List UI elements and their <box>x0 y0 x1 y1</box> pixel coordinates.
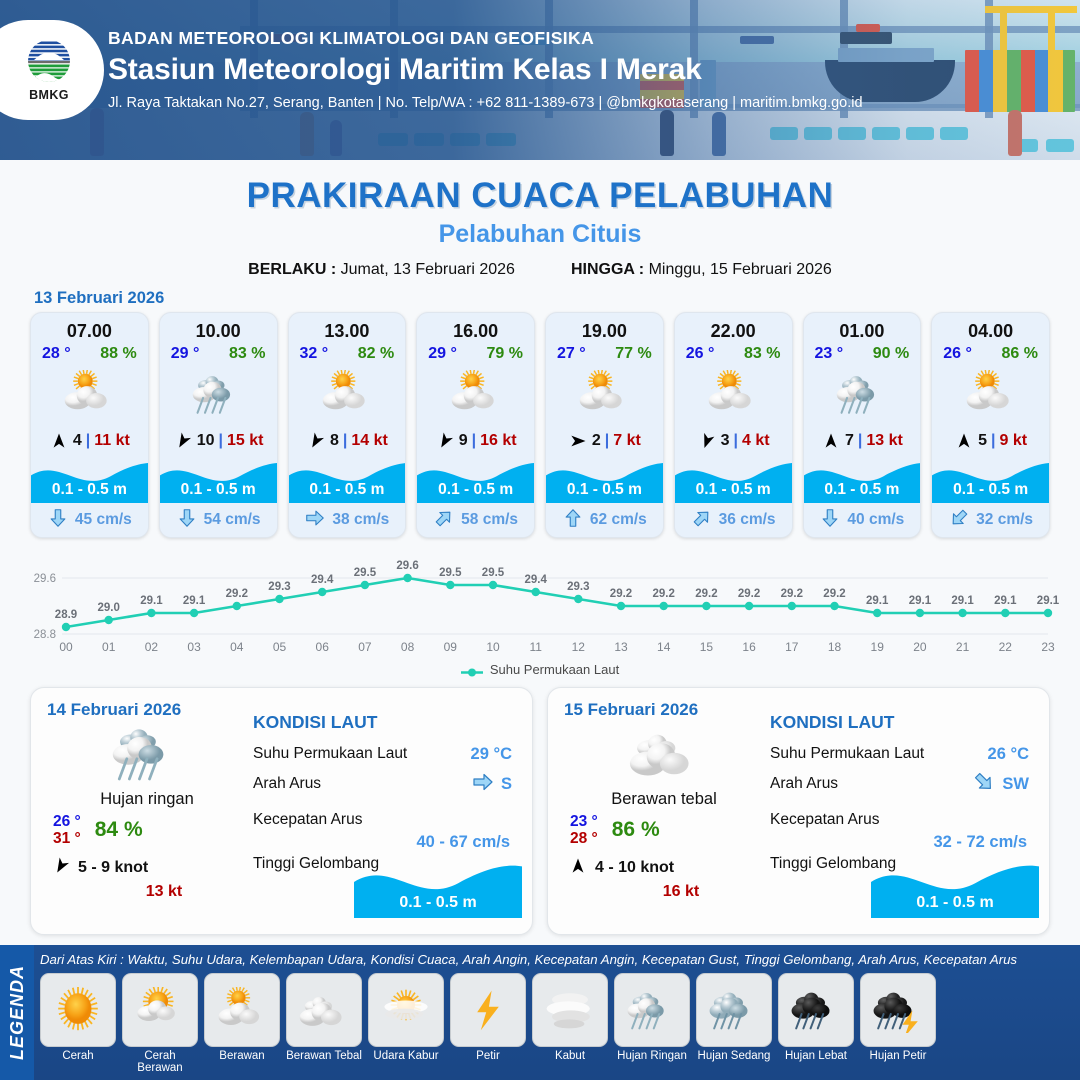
sst-value: 26 °C <box>988 745 1029 764</box>
chart-legend-marker <box>461 665 483 674</box>
daily-temp-col: 26 ° 31 ° <box>53 813 81 848</box>
card-wind-row: 2 | 7 kt <box>546 425 663 457</box>
card-humidity: 77 % <box>615 345 651 363</box>
svg-text:29.3: 29.3 <box>567 581 589 593</box>
svg-text:03: 03 <box>187 640 201 654</box>
card-gust: 15 kt <box>227 432 263 450</box>
svg-text:12: 12 <box>572 640 586 654</box>
card-humidity: 90 % <box>873 345 909 363</box>
svg-text:29.1: 29.1 <box>1037 595 1060 607</box>
daily-humidity: 84 % <box>95 818 143 842</box>
daily-wave-block: 0.1 - 0.5 m <box>354 858 522 918</box>
wind-direction-arrow-icon <box>568 856 588 881</box>
card-temp-humidity-row: 26 ° 83 % <box>675 342 792 363</box>
legend-item: Petir <box>450 973 526 1074</box>
current-speed-value: 32 - 72 cm/s <box>933 833 1027 852</box>
card-time: 19.00 <box>546 313 663 342</box>
svg-text:05: 05 <box>273 640 287 654</box>
card-temperature: 26 ° <box>943 345 972 363</box>
svg-text:02: 02 <box>145 640 159 654</box>
svg-text:29.3: 29.3 <box>268 581 290 593</box>
svg-text:19: 19 <box>871 640 885 654</box>
svg-text:29.5: 29.5 <box>354 567 377 579</box>
card-humidity: 82 % <box>358 345 394 363</box>
legend-item: Hujan Petir <box>860 973 936 1074</box>
card-separator: | <box>219 432 223 450</box>
card-wind-speed: 10 <box>197 432 215 450</box>
legend-icon-hujan-petir-icon <box>860 973 936 1047</box>
legend-item: Udara Kabur <box>368 973 444 1074</box>
current-speed-label: Kecepatan Arus <box>253 811 362 829</box>
card-current-speed: 32 cm/s <box>976 511 1033 529</box>
card-wind-row: 3 | 4 kt <box>675 425 792 457</box>
card-separator: | <box>991 432 995 450</box>
page-header: BMKG BADAN METEOROLOGI KLIMATOLOGI DAN G… <box>0 0 1080 160</box>
legend-item-label: Cerah Berawan <box>122 1050 198 1074</box>
svg-text:29.2: 29.2 <box>695 588 717 600</box>
svg-text:29.5: 29.5 <box>482 567 505 579</box>
card-current-speed: 36 cm/s <box>719 511 776 529</box>
daily-panel-left: 15 Februari 2026 Berawan tebal 23 ° 28 °… <box>564 700 764 922</box>
svg-text:15: 15 <box>700 640 714 654</box>
current-speed-row: Kecepatan Arus 40 - 67 cm/s <box>253 811 516 829</box>
legend-icon-cerah-icon <box>40 973 116 1047</box>
card-wave-height: 0.1 - 0.5 m <box>31 481 148 499</box>
card-time: 04.00 <box>932 313 1049 342</box>
svg-text:20: 20 <box>913 640 927 654</box>
svg-text:29.1: 29.1 <box>140 595 163 607</box>
daily-panel-right: KONDISI LAUT Suhu Permukaan Laut 26 °C A… <box>764 700 1033 922</box>
card-temp-humidity-row: 26 ° 86 % <box>932 342 1049 363</box>
header-text-block: BADAN METEOROLOGI KLIMATOLOGI DAN GEOFIS… <box>108 28 863 111</box>
card-time: 22.00 <box>675 313 792 342</box>
hourly-card: 04.00 26 ° 86 % 5 | 9 kt 0.1 - 0.5 m <box>931 312 1050 538</box>
daily-temp-max: 28 ° <box>570 830 598 847</box>
card-wave-block: 0.1 - 0.5 m <box>675 457 792 503</box>
legend-side-banner: LEGENDA <box>0 945 34 1080</box>
card-current-row: 40 cm/s <box>804 503 921 537</box>
card-wave-block: 0.1 - 0.5 m <box>804 457 921 503</box>
card-current-speed: 38 cm/s <box>332 511 389 529</box>
card-weather-icon <box>31 365 148 423</box>
sst-row: Suhu Permukaan Laut 26 °C <box>770 745 1033 763</box>
legend-item-label: Petir <box>450 1050 526 1062</box>
card-temp-humidity-row: 28 ° 88 % <box>31 342 148 363</box>
card-wave-block: 0.1 - 0.5 m <box>932 457 1049 503</box>
wind-direction-arrow-icon <box>306 431 326 451</box>
valid-from-label: BERLAKU : <box>248 261 336 278</box>
daily-wave-value: 0.1 - 0.5 m <box>871 894 1039 912</box>
card-wind-row: 5 | 9 kt <box>932 425 1049 457</box>
svg-text:29.1: 29.1 <box>951 595 974 607</box>
card-separator: | <box>734 432 738 450</box>
svg-text:11: 11 <box>529 640 542 654</box>
card-current-row: 62 cm/s <box>546 503 663 537</box>
legend-icon-berawan-icon <box>204 973 280 1047</box>
daily-panel: 15 Februari 2026 Berawan tebal 23 ° 28 °… <box>547 687 1050 935</box>
card-humidity: 79 % <box>487 345 523 363</box>
valid-until-label: HINGGA : <box>571 261 644 278</box>
legend-item: Cerah Berawan <box>122 973 198 1074</box>
card-weather-icon <box>160 365 277 423</box>
legend-item-label: Udara Kabur <box>368 1050 444 1062</box>
card-current-row: 32 cm/s <box>932 503 1049 537</box>
current-direction-label: Arah Arus <box>770 775 838 793</box>
bmkg-logo-text: BMKG <box>22 88 76 102</box>
card-gust: 11 kt <box>94 432 130 450</box>
card-wave-block: 0.1 - 0.5 m <box>160 457 277 503</box>
legend-item-label: Hujan Sedang <box>696 1050 772 1062</box>
validity-row: BERLAKU : Jumat, 13 Februari 2026 HINGGA… <box>0 261 1080 279</box>
svg-text:23: 23 <box>1041 640 1055 654</box>
daily-condition: Hujan ringan <box>47 790 247 809</box>
card-current-speed: 62 cm/s <box>590 511 647 529</box>
daily-temp-max: 31 ° <box>53 830 81 847</box>
card-wind-speed: 4 <box>73 432 82 450</box>
sst-label: Suhu Permukaan Laut <box>253 745 407 763</box>
wind-direction-arrow-icon <box>435 431 455 451</box>
svg-text:29.2: 29.2 <box>738 588 760 600</box>
station-name: Stasiun Meteorologi Maritim Kelas I Mera… <box>108 53 863 87</box>
svg-text:09: 09 <box>444 640 458 654</box>
daily-wind-range: 5 - 9 knot <box>78 859 148 877</box>
daily-weather-icon <box>47 722 247 786</box>
card-temperature: 23 ° <box>815 345 844 363</box>
hourly-forecast-row: 07.00 28 ° 88 % 4 | 11 kt 0.1 - 0.5 m <box>0 312 1080 538</box>
card-weather-icon <box>289 365 406 423</box>
card-gust: 14 kt <box>351 432 387 450</box>
card-current-speed: 40 cm/s <box>847 511 904 529</box>
card-gust: 13 kt <box>866 432 902 450</box>
sst-chart: 28.829.628.90029.00129.10229.10329.20429… <box>18 552 1062 660</box>
card-wave-height: 0.1 - 0.5 m <box>417 481 534 499</box>
card-current-row: 38 cm/s <box>289 503 406 537</box>
daily-wind-row: 5 - 9 knot <box>47 856 247 881</box>
card-temp-humidity-row: 29 ° 79 % <box>417 342 534 363</box>
legend-item: Hujan Sedang <box>696 973 772 1074</box>
daily-panel-left: 14 Februari 2026 Hujan ringan 26 ° 31 ° … <box>47 700 247 922</box>
daily-date: 14 Februari 2026 <box>47 700 247 720</box>
svg-text:29.2: 29.2 <box>781 588 803 600</box>
card-wave-block: 0.1 - 0.5 m <box>31 457 148 503</box>
current-direction-arrow-icon <box>819 507 841 534</box>
svg-text:29.2: 29.2 <box>610 588 632 600</box>
current-direction-arrow-icon <box>972 770 996 799</box>
card-separator: | <box>858 432 862 450</box>
card-weather-icon <box>932 365 1049 423</box>
daily-panel: 14 Februari 2026 Hujan ringan 26 ° 31 ° … <box>30 687 533 935</box>
card-time: 07.00 <box>31 313 148 342</box>
legend-item: Kabut <box>532 973 608 1074</box>
hourly-card: 19.00 27 ° 77 % 2 | 7 kt 0.1 - 0.5 m <box>545 312 664 538</box>
card-wave-block: 0.1 - 0.5 m <box>546 457 663 503</box>
hourly-card: 10.00 29 ° 83 % 10 | 15 kt <box>159 312 278 538</box>
card-temperature: 32 ° <box>300 345 329 363</box>
sea-conditions-title: KONDISI LAUT <box>770 712 1033 733</box>
daily-wave-block: 0.1 - 0.5 m <box>871 858 1039 918</box>
current-direction-arrow-icon <box>562 507 584 534</box>
svg-text:17: 17 <box>785 640 799 654</box>
svg-text:06: 06 <box>316 640 330 654</box>
card-time: 13.00 <box>289 313 406 342</box>
card-wave-block: 0.1 - 0.5 m <box>417 457 534 503</box>
svg-text:29.2: 29.2 <box>653 588 675 600</box>
card-current-row: 58 cm/s <box>417 503 534 537</box>
svg-text:04: 04 <box>230 640 244 654</box>
card-humidity: 86 % <box>1002 345 1038 363</box>
bmkg-logo-icon <box>22 39 76 87</box>
card-wave-height: 0.1 - 0.5 m <box>675 481 792 499</box>
card-wave-height: 0.1 - 0.5 m <box>546 481 663 499</box>
svg-text:29.2: 29.2 <box>226 588 248 600</box>
daily-weather-icon <box>564 722 764 786</box>
legend-icon-kabut-icon <box>532 973 608 1047</box>
page-title: PRAKIRAAN CUACA PELABUHAN <box>0 176 1080 216</box>
legend-item: Hujan Lebat <box>778 973 854 1074</box>
wind-direction-arrow-icon <box>568 431 588 451</box>
daily-gust: 16 kt <box>564 883 764 901</box>
legend-icon-row: Cerah Cerah Berawan Berawan <box>40 973 1074 1074</box>
card-wind-row: 8 | 14 kt <box>289 425 406 457</box>
current-direction-arrow-icon <box>948 507 970 534</box>
svg-text:29.6: 29.6 <box>396 560 418 572</box>
sea-conditions-title: KONDISI LAUT <box>253 712 516 733</box>
valid-from-value: Jumat, 13 Februari 2026 <box>341 261 515 278</box>
card-weather-icon <box>417 365 534 423</box>
chart-legend-label: Suhu Permukaan Laut <box>490 662 619 677</box>
svg-text:00: 00 <box>59 640 73 654</box>
daily-wind-row: 4 - 10 knot <box>564 856 764 881</box>
legend-icon-berawan-tebal-icon <box>286 973 362 1047</box>
card-humidity: 83 % <box>229 345 265 363</box>
legend-item-label: Kabut <box>532 1050 608 1062</box>
daily-date: 15 Februari 2026 <box>564 700 764 720</box>
legend-icon-petir-icon <box>450 973 526 1047</box>
card-wind-speed: 3 <box>721 432 730 450</box>
legend-icon-cerah-berawan-icon <box>122 973 198 1047</box>
card-current-row: 36 cm/s <box>675 503 792 537</box>
card-weather-icon <box>804 365 921 423</box>
legend-icon-hujan-ringan-icon <box>614 973 690 1047</box>
svg-text:29.4: 29.4 <box>311 574 334 586</box>
legend-item: Hujan Ringan <box>614 973 690 1074</box>
card-weather-icon <box>675 365 792 423</box>
svg-text:29.6: 29.6 <box>34 573 56 585</box>
wind-direction-arrow-icon <box>49 431 69 451</box>
card-current-row: 54 cm/s <box>160 503 277 537</box>
hourly-card: 01.00 23 ° 90 % 7 | 13 kt <box>803 312 922 538</box>
svg-text:29.1: 29.1 <box>994 595 1017 607</box>
legend-item-label: Hujan Ringan <box>614 1050 690 1062</box>
legend-item-label: Berawan Tebal <box>286 1050 362 1062</box>
card-temp-humidity-row: 29 ° 83 % <box>160 342 277 363</box>
wind-direction-arrow-icon <box>697 431 717 451</box>
daily-gust: 13 kt <box>47 883 247 901</box>
daily-temp-col: 23 ° 28 ° <box>570 813 598 848</box>
svg-text:29.5: 29.5 <box>439 567 462 579</box>
svg-text:28.9: 28.9 <box>55 609 77 621</box>
card-current-speed: 45 cm/s <box>75 511 132 529</box>
wind-direction-arrow-icon <box>173 431 193 451</box>
card-wave-height: 0.1 - 0.5 m <box>804 481 921 499</box>
current-speed-row: Kecepatan Arus 32 - 72 cm/s <box>770 811 1033 829</box>
card-temperature: 29 ° <box>171 345 200 363</box>
current-direction-label: Arah Arus <box>253 775 321 793</box>
daily-temp-humidity: 23 ° 28 ° 86 % <box>564 813 764 848</box>
legend-footer: LEGENDA Dari Atas Kiri : Waktu, Suhu Uda… <box>0 945 1080 1080</box>
legend-item: Berawan <box>204 973 280 1074</box>
svg-text:18: 18 <box>828 640 842 654</box>
legend-item-label: Hujan Petir <box>860 1050 936 1062</box>
legend-item-label: Hujan Lebat <box>778 1050 854 1062</box>
current-direction-arrow-icon <box>691 507 713 534</box>
legend-item-label: Berawan <box>204 1050 280 1062</box>
card-current-speed: 54 cm/s <box>204 511 261 529</box>
current-direction-group: SW <box>972 770 1029 799</box>
current-direction-arrow-icon <box>304 507 326 534</box>
chart-legend: Suhu Permukaan Laut <box>0 662 1080 677</box>
current-direction-value: SW <box>1002 775 1029 794</box>
current-direction-row: Arah Arus SW <box>770 775 1033 793</box>
daily-forecast-panels: 14 Februari 2026 Hujan ringan 26 ° 31 ° … <box>0 677 1080 935</box>
current-direction-arrow-icon <box>176 507 198 534</box>
svg-text:07: 07 <box>358 640 372 654</box>
svg-text:22: 22 <box>999 640 1013 654</box>
agency-name: BADAN METEOROLOGI KLIMATOLOGI DAN GEOFIS… <box>108 28 863 49</box>
daily-temp-humidity: 26 ° 31 ° 84 % <box>47 813 247 848</box>
svg-text:14: 14 <box>657 640 671 654</box>
svg-text:29.1: 29.1 <box>183 595 206 607</box>
hourly-card: 07.00 28 ° 88 % 4 | 11 kt 0.1 - 0.5 m <box>30 312 149 538</box>
sst-label: Suhu Permukaan Laut <box>770 745 924 763</box>
sst-value: 29 °C <box>471 745 512 764</box>
card-separator: | <box>343 432 347 450</box>
svg-text:29.1: 29.1 <box>909 595 932 607</box>
svg-text:08: 08 <box>401 640 415 654</box>
card-gust: 7 kt <box>613 432 641 450</box>
card-wind-speed: 8 <box>330 432 339 450</box>
forecast-day-label: 13 Februari 2026 <box>34 289 1080 308</box>
hourly-card: 22.00 26 ° 83 % 3 | 4 kt 0.1 - 0.5 m <box>674 312 793 538</box>
hourly-card: 13.00 32 ° 82 % 8 | 14 kt 0.1 - 0.5 m <box>288 312 407 538</box>
card-temp-humidity-row: 23 ° 90 % <box>804 342 921 363</box>
legend-item: Berawan Tebal <box>286 973 362 1074</box>
card-wind-speed: 5 <box>978 432 987 450</box>
sst-row: Suhu Permukaan Laut 29 °C <box>253 745 516 763</box>
current-direction-row: Arah Arus S <box>253 775 516 793</box>
daily-temp-min: 23 ° <box>570 813 598 830</box>
card-wind-row: 9 | 16 kt <box>417 425 534 457</box>
card-temperature: 29 ° <box>428 345 457 363</box>
daily-temp-min: 26 ° <box>53 813 81 830</box>
card-separator: | <box>86 432 90 450</box>
valid-from: BERLAKU : Jumat, 13 Februari 2026 <box>248 261 515 279</box>
card-time: 16.00 <box>417 313 534 342</box>
card-current-speed: 58 cm/s <box>461 511 518 529</box>
card-current-row: 45 cm/s <box>31 503 148 537</box>
card-humidity: 83 % <box>744 345 780 363</box>
current-direction-arrow-icon <box>47 507 69 534</box>
card-wave-block: 0.1 - 0.5 m <box>289 457 406 503</box>
svg-text:29.4: 29.4 <box>525 574 548 586</box>
legend-icon-hujan-sedang-icon <box>696 973 772 1047</box>
svg-text:10: 10 <box>486 640 500 654</box>
valid-until-value: Minggu, 15 Februari 2026 <box>649 261 832 278</box>
current-direction-value: S <box>501 775 512 794</box>
page-subtitle: Pelabuhan Cituis <box>0 220 1080 249</box>
card-gust: 16 kt <box>480 432 516 450</box>
card-wind-speed: 7 <box>845 432 854 450</box>
card-time: 01.00 <box>804 313 921 342</box>
card-wind-speed: 2 <box>592 432 601 450</box>
bmkg-logo: BMKG <box>0 20 104 120</box>
legend-icon-udara-kabur-icon <box>368 973 444 1047</box>
svg-text:21: 21 <box>956 640 970 654</box>
card-wind-row: 7 | 13 kt <box>804 425 921 457</box>
daily-wave-value: 0.1 - 0.5 m <box>354 894 522 912</box>
card-wind-speed: 9 <box>459 432 468 450</box>
card-wind-row: 10 | 15 kt <box>160 425 277 457</box>
svg-text:16: 16 <box>742 640 756 654</box>
wind-direction-arrow-icon <box>954 431 974 451</box>
card-temperature: 27 ° <box>557 345 586 363</box>
hourly-card: 16.00 29 ° 79 % 9 | 16 kt 0.1 - 0.5 m <box>416 312 535 538</box>
card-humidity: 88 % <box>100 345 136 363</box>
card-wind-row: 4 | 11 kt <box>31 425 148 457</box>
valid-until: HINGGA : Minggu, 15 Februari 2026 <box>571 261 832 279</box>
svg-text:28.8: 28.8 <box>34 629 56 641</box>
legend-side-title: LEGENDA <box>7 965 28 1060</box>
svg-text:01: 01 <box>102 640 116 654</box>
wind-direction-arrow-icon <box>51 856 71 881</box>
daily-condition: Berawan tebal <box>564 790 764 809</box>
svg-text:29.1: 29.1 <box>866 595 889 607</box>
legend-note: Dari Atas Kiri : Waktu, Suhu Udara, Kele… <box>40 952 1076 967</box>
contact-line: Jl. Raya Taktakan No.27, Serang, Banten … <box>108 95 863 111</box>
current-direction-group: S <box>471 770 512 799</box>
card-wave-height: 0.1 - 0.5 m <box>160 481 277 499</box>
svg-text:13: 13 <box>614 640 628 654</box>
card-time: 10.00 <box>160 313 277 342</box>
current-direction-arrow-icon <box>471 770 495 799</box>
legend-item: Cerah <box>40 973 116 1074</box>
card-gust: 9 kt <box>1000 432 1028 450</box>
card-separator: | <box>472 432 476 450</box>
card-temp-humidity-row: 27 ° 77 % <box>546 342 663 363</box>
daily-panel-right: KONDISI LAUT Suhu Permukaan Laut 29 °C A… <box>247 700 516 922</box>
card-temperature: 26 ° <box>686 345 715 363</box>
card-wave-height: 0.1 - 0.5 m <box>932 481 1049 499</box>
daily-wind-range: 4 - 10 knot <box>595 859 674 877</box>
card-weather-icon <box>546 365 663 423</box>
legend-icon-hujan-lebat-icon <box>778 973 854 1047</box>
card-separator: | <box>605 432 609 450</box>
current-speed-value: 40 - 67 cm/s <box>416 833 510 852</box>
current-direction-arrow-icon <box>433 507 455 534</box>
legend-item-label: Cerah <box>40 1050 116 1062</box>
card-temperature: 28 ° <box>42 345 71 363</box>
sst-chart-svg: 28.829.628.90029.00129.10229.10329.20429… <box>18 552 1062 656</box>
card-temp-humidity-row: 32 ° 82 % <box>289 342 406 363</box>
wind-direction-arrow-icon <box>821 431 841 451</box>
card-wave-height: 0.1 - 0.5 m <box>289 481 406 499</box>
svg-text:29.0: 29.0 <box>98 602 120 614</box>
card-gust: 4 kt <box>742 432 770 450</box>
svg-text:29.2: 29.2 <box>823 588 845 600</box>
current-speed-label: Kecepatan Arus <box>770 811 879 829</box>
daily-humidity: 86 % <box>612 818 660 842</box>
